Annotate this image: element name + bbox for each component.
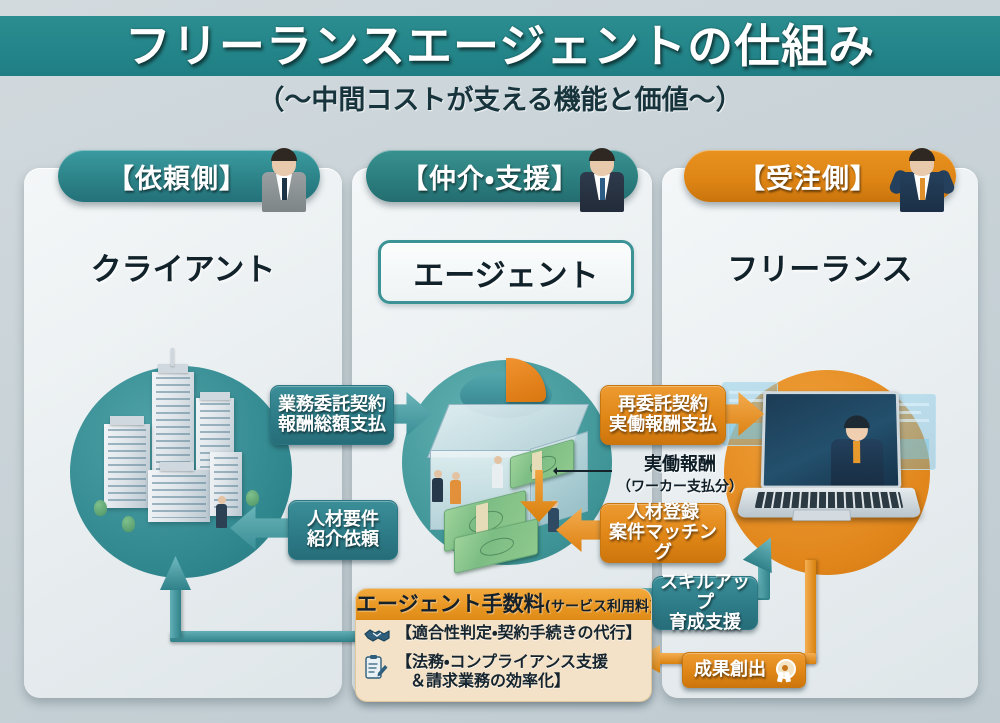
flow-chip-register-line1: 人材登録 [627,503,699,523]
flow-chip-register: 人材登録 案件マッチング [600,503,726,563]
handshake-icon [364,625,390,649]
callout-actual-pay-line2: （ワーカー支払分） [610,476,750,496]
page-subtitle: （〜中間コストが支える機能と価値〜） [0,82,1000,120]
flow-chip-skillup-line2: 育成支援 [669,613,741,633]
role-title-client: クライアント [24,244,342,289]
infographic-canvas: フリーランスエージェントの仕組み （〜中間コストが支える機能と価値〜） 【依頼側… [0,0,1000,723]
fee-item-2-line1: 【法務・コンプライアンス支援 [396,652,608,671]
agent-avatar-icon [576,146,628,212]
role-title-agent-box: エージェント [378,240,634,304]
fee-path-vertical [170,586,181,638]
flow-chip-request: 人材要件 紹介依頼 [288,500,398,560]
laptop-worker-icon [738,390,922,560]
clipboard-pen-icon [364,654,390,678]
fee-item-2-text: 【法務・コンプライアンス支援 ＆請求業務の効率化】 [396,653,608,691]
award-ribbon-icon [774,659,794,681]
pill-client-label: 【依頼側】 [107,157,247,196]
result-chip-label: 成果創出 [694,660,766,680]
businessman-avatar-icon [258,146,310,212]
flow-chip-resubcontract: 再委託契約 実働報酬支払 [600,385,726,445]
flow-chip-request-line1: 人材要件 [307,510,379,530]
callout-actual-pay: 実働報酬 （ワーカー支払分） [610,450,750,496]
flow-chip-contract-line2: 報酬総額支払 [278,415,386,435]
callout-actual-pay-line1: 実働報酬 [610,450,750,476]
fee-item-2: 【法務・コンプライアンス支援 ＆請求業務の効率化】 [356,649,651,691]
callout-leader-line [556,470,612,472]
flow-chip-contract: 業務委託契約 報酬総額支払 [270,385,394,445]
fee-card: エージェント手数料(サービス利用料) 【適合性判定・契約手続きの代行】 [355,588,652,702]
fee-item-2-line2: ＆請求業務の効率化】 [396,672,570,691]
flow-chip-request-line2: 紹介依頼 [307,530,379,550]
flow-chip-contract-line1: 業務委託契約 [278,395,386,415]
fee-card-header-sub: (サービス利用料) [545,599,652,615]
flow-chip-skillup: スキルアップ 育成支援 [652,576,758,630]
fee-item-1-text: 【適合性判定・契約手続きの代行】 [396,624,641,643]
flow-chip-resubcontract-line1: 再委託契約 [618,395,708,415]
flow-chip-resubcontract-line2: 実働報酬支払 [609,415,717,435]
fee-item-1: 【適合性判定・契約手続きの代行】 [356,620,651,649]
pill-freelance-label: 【受注側】 [738,157,878,196]
flow-chip-register-line2: 案件マッチング [601,523,725,563]
fee-card-header: エージェント手数料(サービス利用料) [356,589,651,620]
flow-chip-skillup-line1: スキルアップ [653,573,757,613]
result-chip: 成果創出 [682,652,806,688]
fee-card-header-main: エージェント手数料 [356,592,545,616]
role-title-agent: エージェント [413,250,598,295]
result-path-vertical [805,560,816,664]
freelancer-avatar-icon [896,146,948,212]
pill-agent-label: 【仲介・支援】 [401,157,579,196]
page-title: フリーランスエージェントの仕組み [0,14,1000,78]
role-title-freelance: フリーランス [662,244,978,289]
